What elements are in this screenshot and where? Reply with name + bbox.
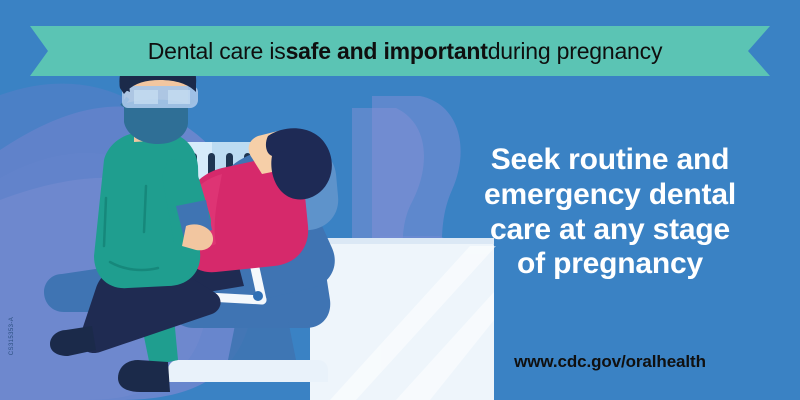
headline-banner: Dental care is safe and important during… xyxy=(30,26,770,76)
poster-canvas: Dental care is safe and important during… xyxy=(0,0,800,400)
banner-text-post: during pregnancy xyxy=(488,38,663,65)
publication-code: CS315353-A xyxy=(9,306,15,366)
headline-line-1: Seek routine and xyxy=(424,143,796,178)
headline-line-4: of pregnancy xyxy=(424,247,796,282)
banner-text: Dental care is safe and important during… xyxy=(30,26,770,76)
headline-line-2: emergency dental xyxy=(424,178,796,213)
headline-line-3: care at any stage xyxy=(424,213,796,248)
safety-glasses xyxy=(122,86,198,108)
headline: Seek routine and emergency dental care a… xyxy=(424,143,796,282)
banner-text-bold: safe and important xyxy=(286,38,488,65)
banner-text-pre: Dental care is xyxy=(148,38,286,65)
website-url[interactable]: www.cdc.gov/oralhealth xyxy=(424,352,796,372)
